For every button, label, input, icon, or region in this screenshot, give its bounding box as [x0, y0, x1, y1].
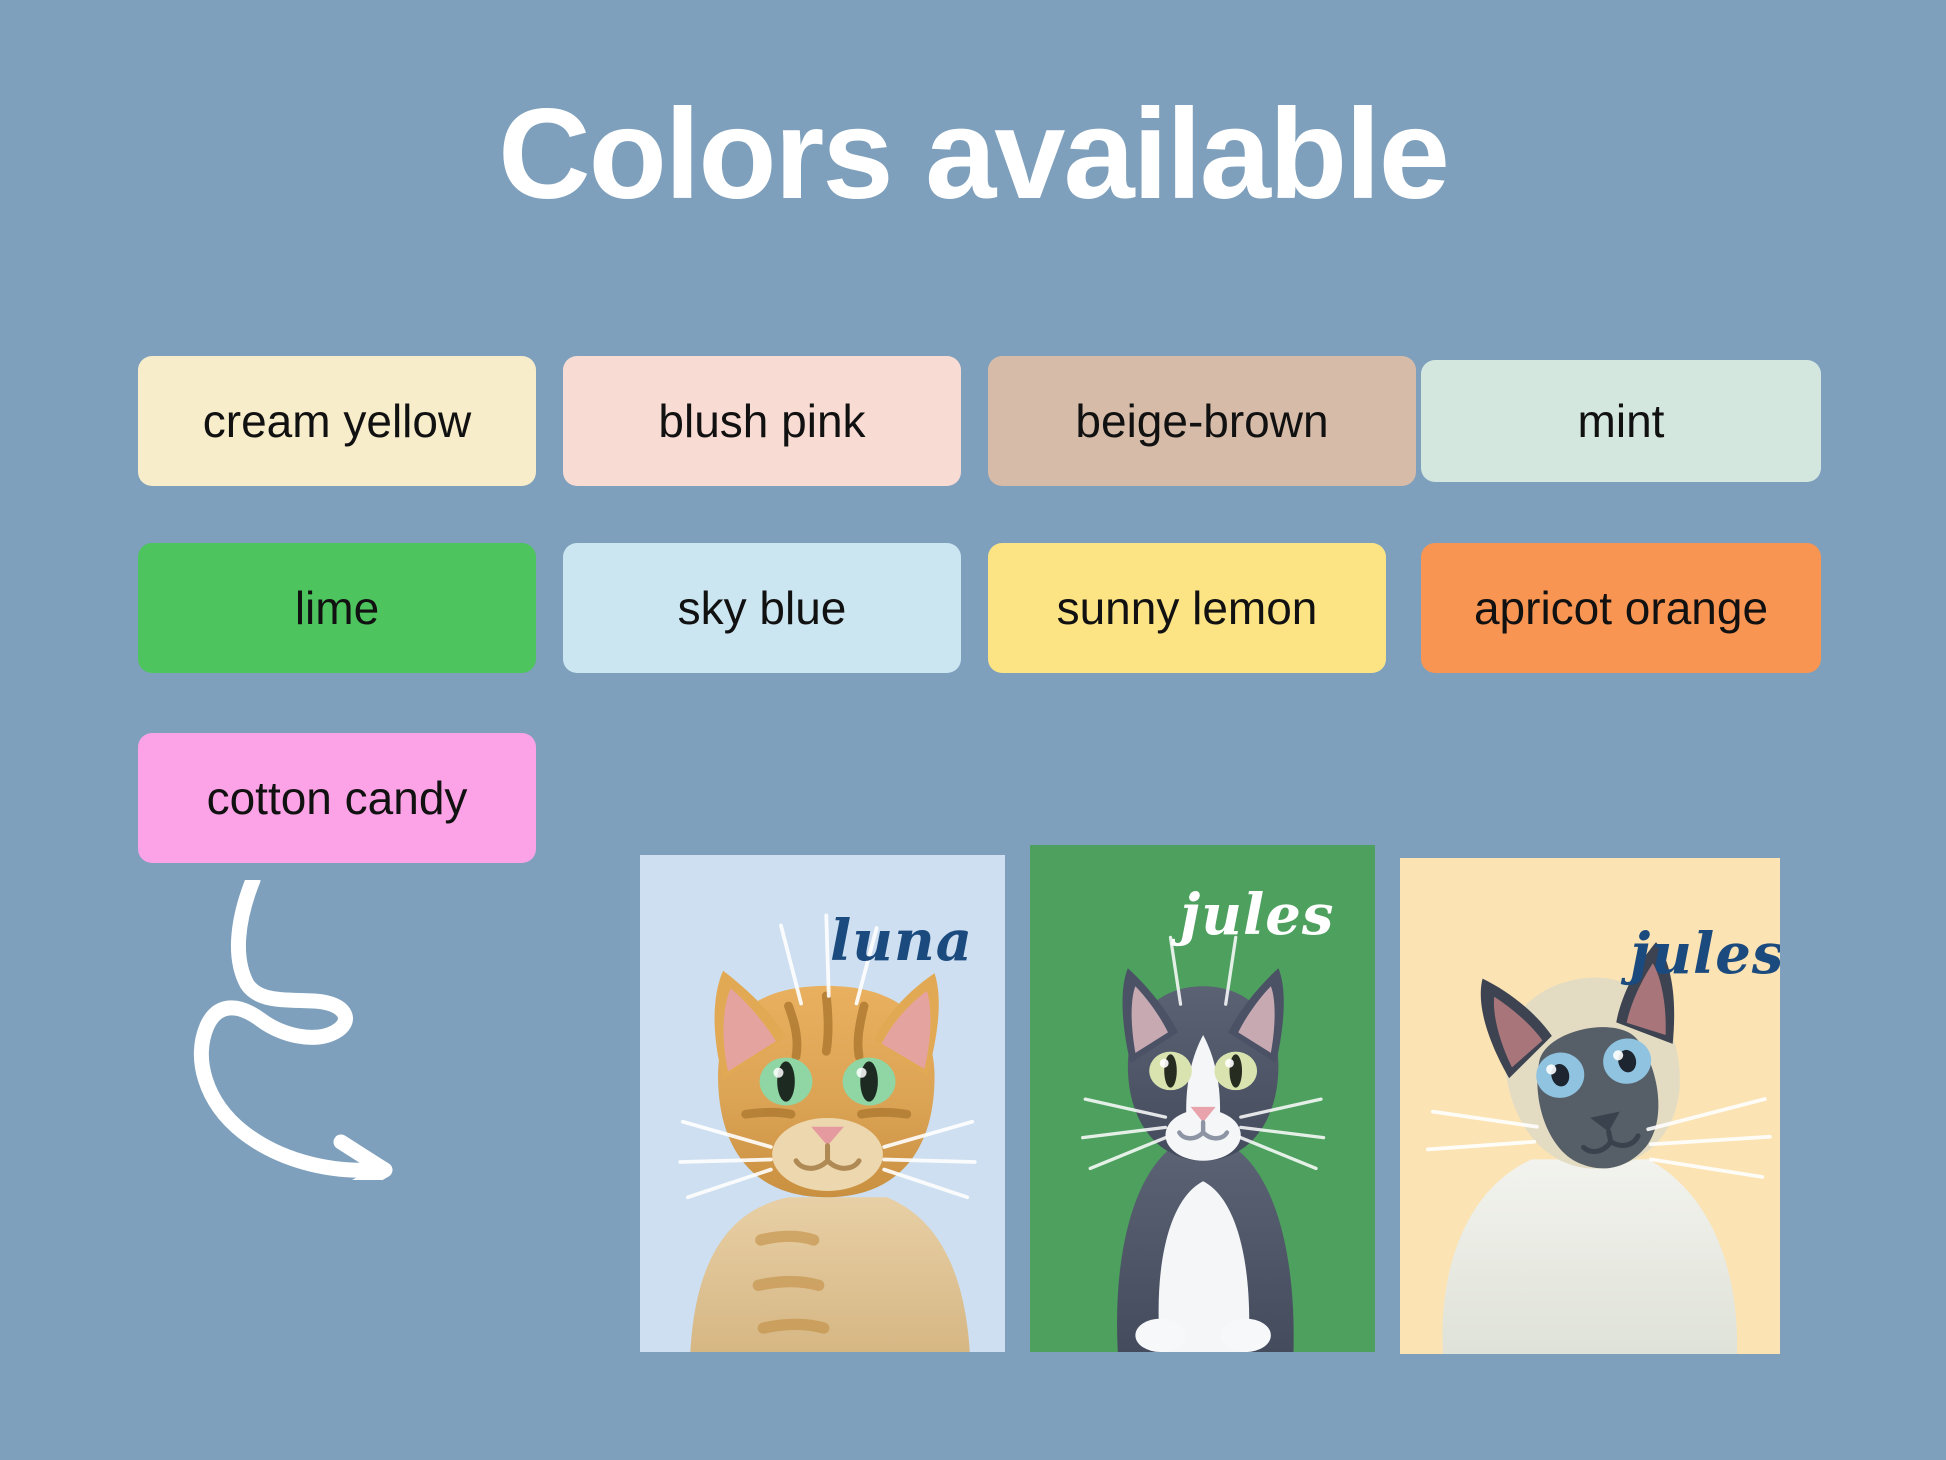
color-swatch-mint[interactable]: mint — [1421, 360, 1821, 482]
color-swatch-label: cream yellow — [203, 398, 471, 444]
cat-card-jules-siamese[interactable]: jules — [1400, 858, 1780, 1354]
color-swatch-label: apricot orange — [1474, 585, 1768, 631]
curly-arrow-svg — [175, 880, 475, 1180]
color-swatch-label: sky blue — [678, 585, 847, 631]
color-swatch-cream-yellow[interactable]: cream yellow — [138, 356, 536, 486]
poster-canvas: Colors available cream yellow blush pink… — [0, 0, 1946, 1460]
color-swatch-blush-pink[interactable]: blush pink — [563, 356, 961, 486]
color-swatch-lime[interactable]: lime — [138, 543, 536, 673]
color-swatch-label: cotton candy — [207, 775, 468, 821]
color-swatch-beige-brown[interactable]: beige-brown — [988, 356, 1416, 486]
curly-arrow-icon — [175, 880, 475, 1180]
color-swatch-label: beige-brown — [1075, 398, 1328, 444]
cat-card-name: jules — [1630, 926, 1780, 982]
color-swatch-sky-blue[interactable]: sky blue — [563, 543, 961, 673]
cat-card-jules-tuxedo[interactable]: jules — [1030, 845, 1375, 1352]
cat-card-name: jules — [1180, 887, 1334, 943]
color-swatch-sunny-lemon[interactable]: sunny lemon — [988, 543, 1386, 673]
color-swatch-label: blush pink — [658, 398, 865, 444]
color-swatch-label: mint — [1578, 398, 1665, 444]
color-swatch-label: sunny lemon — [1057, 585, 1318, 631]
color-swatch-cotton-candy[interactable]: cotton candy — [138, 733, 536, 863]
cat-card-name: luna — [830, 913, 973, 969]
color-swatch-label: lime — [295, 585, 379, 631]
color-swatch-apricot-orange[interactable]: apricot orange — [1421, 543, 1821, 673]
cat-card-luna[interactable]: luna — [640, 855, 1005, 1352]
page-title: Colors available — [0, 88, 1946, 222]
